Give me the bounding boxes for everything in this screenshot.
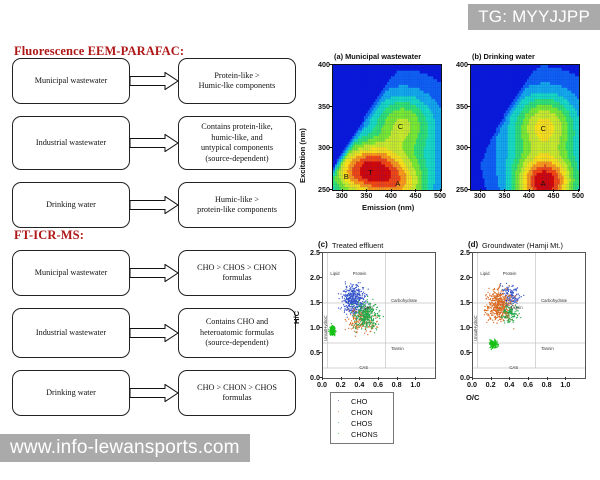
vk-xtick-mark	[322, 377, 323, 380]
flow-result-label: CHO > CHON > CHOSformulas	[197, 383, 277, 404]
vk-legend-label: CHOS	[351, 419, 372, 428]
eem-peak-label: A	[541, 179, 546, 188]
flow-result-box: Humic-like >protein-like components	[178, 182, 296, 228]
flow-arrow-icon	[130, 264, 178, 282]
eem-xtick-mark	[440, 189, 441, 192]
vk-xtick-mark	[415, 377, 416, 380]
eem-ytick: 300	[310, 143, 330, 152]
vk-region-label: Lipid	[480, 271, 489, 276]
eem-ylabel: Excitation (nm)	[298, 128, 307, 183]
vk-xtick: 0.4	[349, 380, 369, 389]
eem-xtick-mark	[391, 189, 392, 192]
vk-xlabel: O/C	[466, 393, 480, 402]
flow-source-box: Industrial wastewater	[12, 116, 130, 170]
vk-xtick-mark	[509, 377, 510, 380]
vk-ytick: 0.5	[452, 348, 470, 357]
flow-source-box: Municipal wastewater	[12, 250, 130, 296]
vk-ytick: 0.0	[452, 373, 470, 382]
vk-region-label: Carbohydrate	[541, 298, 567, 303]
vk-legend-item: ·CHO	[335, 396, 387, 407]
flow-source-box: Drinking water	[12, 370, 130, 416]
vk-xtick-mark	[378, 377, 379, 380]
vk-ytick: 2.0	[302, 273, 320, 282]
flow-result-label: Contains protein-like,humic-like, andunt…	[201, 122, 273, 164]
flow-source-label: Drinking water	[46, 388, 96, 399]
vk-ytick-mark	[469, 352, 472, 353]
eem-xtick: 400	[521, 191, 537, 200]
eem-contour-surface	[471, 65, 579, 190]
vk-title: Groundwater (Hamji Mt.)	[482, 241, 563, 250]
vk-region-label: UnsatHydroC	[323, 315, 328, 341]
vk-ytick: 1.0	[302, 323, 320, 332]
vk-legend-item: ·CHOS	[335, 418, 387, 429]
section-title-eem: Fluorescence EEM-PARAFAC:	[14, 44, 184, 59]
vk-xtick-mark	[359, 377, 360, 380]
vk-ylabel: H/C	[292, 310, 301, 323]
flow-arrow-icon	[130, 324, 178, 342]
eem-ytick: 250	[310, 185, 330, 194]
eem-xtick-mark	[553, 189, 554, 192]
eem-ytick-mark	[329, 64, 332, 65]
flow-source-label: Industrial wastewater	[36, 138, 106, 149]
eem-ytick: 350	[448, 102, 468, 111]
eem-plot-area	[470, 64, 580, 191]
eem-title: (b) Drinking water	[472, 52, 535, 61]
flow-source-label: Drinking water	[46, 200, 96, 211]
vk-legend-item: ·CHON	[335, 407, 387, 418]
vk-ytick: 0.5	[302, 348, 320, 357]
vk-xtick: 0.4	[499, 380, 519, 389]
watermark-url: www.info-lewansports.com	[0, 434, 250, 462]
vk-region-label: Carbohydrate	[391, 298, 417, 303]
vk-region-label: Protein	[503, 271, 517, 276]
eem-ytick: 400	[448, 60, 468, 69]
eem-title: (a) Municipal wastewater	[334, 52, 421, 61]
eem-peak-label: C	[541, 124, 546, 133]
eem-ytick-mark	[329, 189, 332, 190]
vk-region-label: Lignin	[511, 305, 522, 310]
flow-result-box: Contains protein-like,humic-like, andunt…	[178, 116, 296, 170]
vk-ytick-mark	[469, 302, 472, 303]
vk-xtick-mark	[491, 377, 492, 380]
vk-ytick: 1.0	[452, 323, 470, 332]
eem-xtick: 300	[472, 191, 488, 200]
eem-xtick: 400	[383, 191, 399, 200]
vk-ytick-mark	[319, 302, 322, 303]
flow-result-label: Protein-like >Humic-lke components	[199, 71, 276, 92]
vk-legend-marker-icon: ·	[335, 409, 342, 416]
eem-contour-surface	[333, 65, 441, 190]
flow-source-box: Industrial wastewater	[12, 308, 130, 358]
eem-xtick: 450	[407, 191, 423, 200]
vk-legend-label: CHONS	[351, 430, 378, 439]
vk-ytick: 1.5	[452, 298, 470, 307]
vk-xtick: 0.8	[537, 380, 557, 389]
flow-source-label: Industrial wastewater	[36, 328, 106, 339]
vk-region-label: CAS	[359, 365, 368, 370]
eem-xtick: 350	[496, 191, 512, 200]
flow-result-box: CHO > CHOS > CHONformulas	[178, 250, 296, 296]
vk-ytick: 0.0	[302, 373, 320, 382]
flow-result-box: CHO > CHON > CHOSformulas	[178, 370, 296, 416]
vk-series-CHONS	[328, 323, 337, 336]
eem-xtick: 500	[570, 191, 586, 200]
eem-xtick-mark	[342, 189, 343, 192]
eem-xtick-mark	[366, 189, 367, 192]
eem-ytick-mark	[467, 189, 470, 190]
eem-xtick-mark	[415, 189, 416, 192]
eem-xtick-mark	[480, 189, 481, 192]
eem-ytick-mark	[329, 106, 332, 107]
vk-xtick-mark	[528, 377, 529, 380]
vk-ytick-mark	[469, 327, 472, 328]
eem-ytick-mark	[467, 147, 470, 148]
eem-xlabel: Emission (nm)	[362, 203, 414, 212]
vk-region-label: Tannin	[541, 346, 554, 351]
figure-root: TG: MYYJJPP www.info-lewansports.com Flu…	[0, 0, 600, 480]
flow-source-box: Drinking water	[12, 182, 130, 228]
flow-arrow-icon	[130, 196, 178, 214]
vk-ytick-mark	[469, 252, 472, 253]
vk-title: Treated effluent	[332, 241, 383, 250]
eem-xtick-mark	[578, 189, 579, 192]
vk-xtick-mark	[397, 377, 398, 380]
vk-ytick: 2.5	[302, 248, 320, 257]
vk-xtick: 0.2	[331, 380, 351, 389]
eem-ytick: 350	[310, 102, 330, 111]
vk-region-label: Tannin	[391, 346, 404, 351]
vk-xtick: 0.8	[387, 380, 407, 389]
flow-source-label: Municipal wastewater	[35, 268, 108, 279]
vk-legend-item: ·CHONS	[335, 429, 387, 440]
vk-ytick-mark	[319, 277, 322, 278]
vk-xtick: 1.0	[555, 380, 575, 389]
vk-ytick-mark	[469, 377, 472, 378]
watermark-tag: TG: MYYJJPP	[468, 4, 600, 30]
eem-xtick: 450	[545, 191, 561, 200]
vk-ytick-mark	[319, 252, 322, 253]
eem-ytick: 400	[310, 60, 330, 69]
flow-arrow-icon	[130, 384, 178, 402]
flow-source-box: Municipal wastewater	[12, 58, 130, 104]
vk-legend-label: CHON	[351, 408, 373, 417]
eem-peak-label: A	[395, 179, 400, 188]
flow-result-box: Contains CHO andheteroatomic formulas(so…	[178, 308, 296, 358]
vk-region-label: UnsatHydroC	[473, 315, 478, 341]
eem-peak-label: C	[398, 122, 403, 131]
vk-xtick-mark	[472, 377, 473, 380]
vk-xtick: 1.0	[405, 380, 425, 389]
vk-region-grid	[323, 253, 435, 378]
eem-ytick: 250	[448, 185, 468, 194]
vk-ytick-mark	[319, 377, 322, 378]
eem-xtick-mark	[529, 189, 530, 192]
flow-result-label: Contains CHO andheteroatomic formulas(so…	[200, 317, 274, 349]
vk-region-grid	[473, 253, 585, 378]
vk-ytick-mark	[319, 327, 322, 328]
vk-xtick-mark	[341, 377, 342, 380]
eem-xtick: 350	[358, 191, 374, 200]
vk-ytick: 2.0	[452, 273, 470, 282]
vk-ytick-mark	[319, 352, 322, 353]
vk-legend-marker-icon: ·	[335, 420, 342, 427]
flow-result-label: Humic-like >protein-like components	[197, 195, 277, 216]
vk-xtick: 0.2	[481, 380, 501, 389]
eem-xtick: 500	[432, 191, 448, 200]
vk-xtick: 0.6	[368, 380, 388, 389]
vk-ytick-mark	[469, 277, 472, 278]
eem-ytick-mark	[329, 147, 332, 148]
flow-source-label: Municipal wastewater	[35, 76, 108, 87]
vk-legend-label: CHO	[351, 397, 367, 406]
eem-xtick-mark	[504, 189, 505, 192]
vk-xtick: 0.6	[518, 380, 538, 389]
vk-ytick: 1.5	[302, 298, 320, 307]
vk-legend: ·CHO·CHON·CHOS·CHONS	[330, 392, 394, 444]
flow-result-box: Protein-like >Humic-lke components	[178, 58, 296, 104]
flow-result-label: CHO > CHOS > CHONformulas	[197, 263, 277, 284]
eem-ytick-mark	[467, 106, 470, 107]
vk-region-label: Lipid	[330, 271, 339, 276]
vk-region-label: Protein	[353, 271, 367, 276]
eem-xtick: 300	[334, 191, 350, 200]
eem-ytick-mark	[467, 64, 470, 65]
vk-legend-marker-icon: ·	[335, 431, 342, 438]
vk-ytick: 2.5	[452, 248, 470, 257]
vk-region-label: CAS	[509, 365, 518, 370]
vk-xtick-mark	[547, 377, 548, 380]
vk-series-CHONS	[489, 338, 499, 350]
eem-peak-label: B	[344, 172, 349, 181]
eem-peak-label: T	[368, 168, 373, 177]
section-title-fticr: FT-ICR-MS:	[14, 228, 84, 243]
eem-ytick: 300	[448, 143, 468, 152]
flow-arrow-icon	[130, 72, 178, 90]
vk-xtick-mark	[565, 377, 566, 380]
vk-region-label: Lignin	[361, 305, 372, 310]
vk-legend-marker-icon: ·	[335, 398, 342, 405]
flow-arrow-icon	[130, 134, 178, 152]
